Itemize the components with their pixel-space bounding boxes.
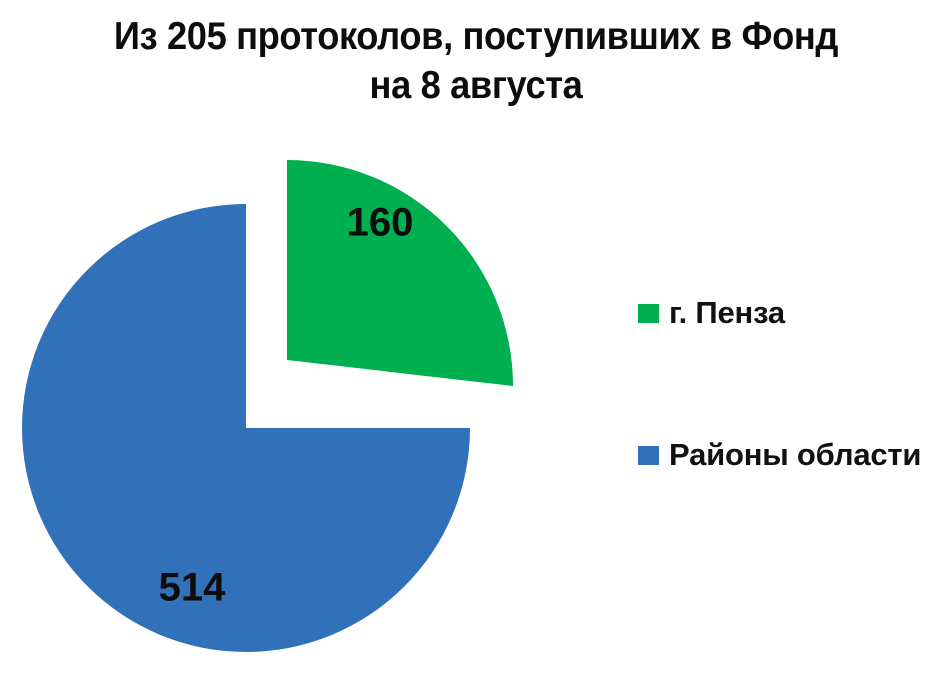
- pie-plot-area: 160 514: [0, 120, 620, 674]
- legend-item-penza[interactable]: г. Пенза: [638, 296, 785, 330]
- legend-label-penza: г. Пенза: [669, 296, 785, 330]
- pie-svg: 160 514: [0, 120, 620, 674]
- legend-swatch-green-icon: [638, 304, 659, 323]
- pie-slice-green[interactable]: [287, 160, 513, 386]
- chart-title: Из 205 протоколов, поступивших в Фонд на…: [52, 12, 900, 110]
- pie-chart: Из 205 протоколов, поступивших в Фонд на…: [0, 0, 952, 674]
- slice-value-blue: 514: [159, 566, 226, 610]
- legend-swatch-blue-icon: [638, 446, 659, 465]
- legend-item-regions[interactable]: Районы области: [638, 438, 921, 472]
- legend-label-regions: Районы области: [669, 438, 921, 472]
- slice-value-green: 160: [347, 201, 414, 245]
- chart-legend: г. Пенза Районы области: [638, 120, 952, 674]
